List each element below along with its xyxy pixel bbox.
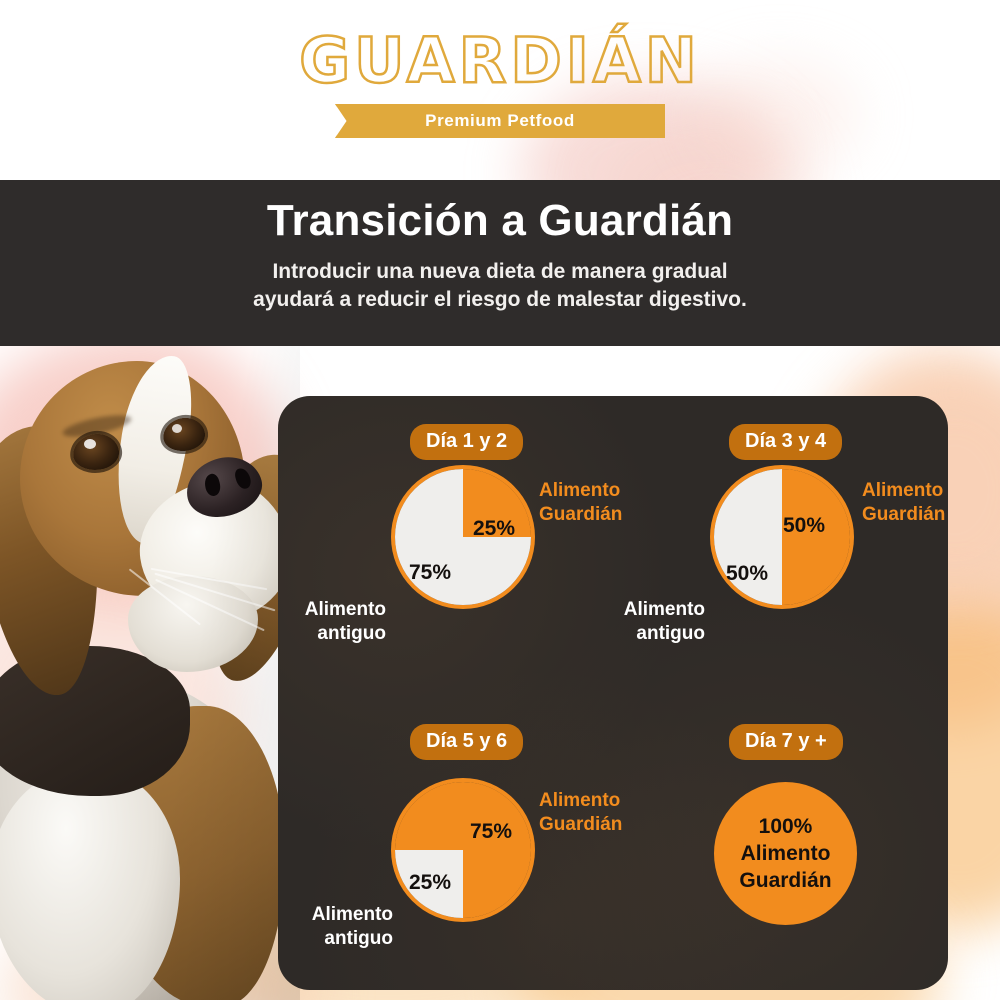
pie-value-old-food: 50% — [726, 562, 768, 586]
pie-value-new-food: 75% — [470, 820, 512, 844]
pie-value-old-food: 75% — [409, 561, 451, 585]
legend-old-food: Alimento antiguo — [605, 598, 705, 646]
legend-old-food-line-1: Alimento — [286, 598, 386, 622]
brand-ribbon: Premium Petfood — [335, 104, 665, 138]
badge-dia-3-y-4: Día 3 y 4 — [729, 424, 842, 460]
badge-dia-7-y-mas: Día 7 y + — [729, 724, 843, 760]
legend-old-food: Alimento antiguo — [293, 903, 393, 951]
legend-new-food: Alimento Guardián — [539, 789, 622, 837]
badge-dia-5-y-6: Día 5 y 6 — [410, 724, 523, 760]
center-text-line-1: 100% — [739, 813, 831, 840]
subtitle-line-2: ayudará a reducir el riesgo de malestar … — [0, 286, 1000, 314]
legend-old-food-line-2: antiguo — [293, 927, 393, 951]
page-subtitle: Introducir una nueva dieta de manera gra… — [0, 258, 1000, 313]
legend-old-food-line-2: antiguo — [605, 622, 705, 646]
brand-wordmark: GUARDIÁN — [0, 30, 1000, 92]
badge-dia-1-y-2: Día 1 y 2 — [410, 424, 523, 460]
pie-chart-dia-5-y-6 — [395, 782, 531, 918]
legend-new-food-line-1: Alimento — [539, 479, 622, 503]
legend-old-food-line-2: antiguo — [286, 622, 386, 646]
center-text-line-2: Alimento — [739, 840, 831, 867]
legend-new-food-line-1: Alimento — [539, 789, 622, 813]
pie-value-new-food: 25% — [473, 517, 515, 541]
dog-photo — [0, 346, 300, 1000]
legend-old-food-line-1: Alimento — [605, 598, 705, 622]
legend-new-food: Alimento Guardián — [539, 479, 622, 527]
subtitle-line-1: Introducir una nueva dieta de manera gra… — [0, 258, 1000, 286]
brand-tagline: Premium Petfood — [425, 111, 575, 131]
legend-new-food-line-2: Guardián — [862, 503, 945, 527]
header-band: Transición a Guardián Introducir una nue… — [0, 180, 1000, 346]
legend-new-food-line-2: Guardián — [539, 813, 622, 837]
legend-new-food-line-1: Alimento — [862, 479, 945, 503]
pie-value-new-food: 50% — [783, 514, 825, 538]
legend-new-food-line-2: Guardián — [539, 503, 622, 527]
brand-logo: GUARDIÁN Premium Petfood — [0, 30, 1000, 138]
legend-old-food: Alimento antiguo — [286, 598, 386, 646]
pie-value-old-food: 25% — [409, 871, 451, 895]
pie-chart-dia-7-y-mas: 100% Alimento Guardián — [714, 782, 857, 925]
center-text-line-3: Guardián — [739, 867, 831, 894]
page-title: Transición a Guardián — [0, 196, 1000, 246]
infographic-canvas: GUARDIÁN Premium Petfood Transición a Gu… — [0, 0, 1000, 1000]
legend-new-food: Alimento Guardián — [862, 479, 945, 527]
legend-old-food-line-1: Alimento — [293, 903, 393, 927]
